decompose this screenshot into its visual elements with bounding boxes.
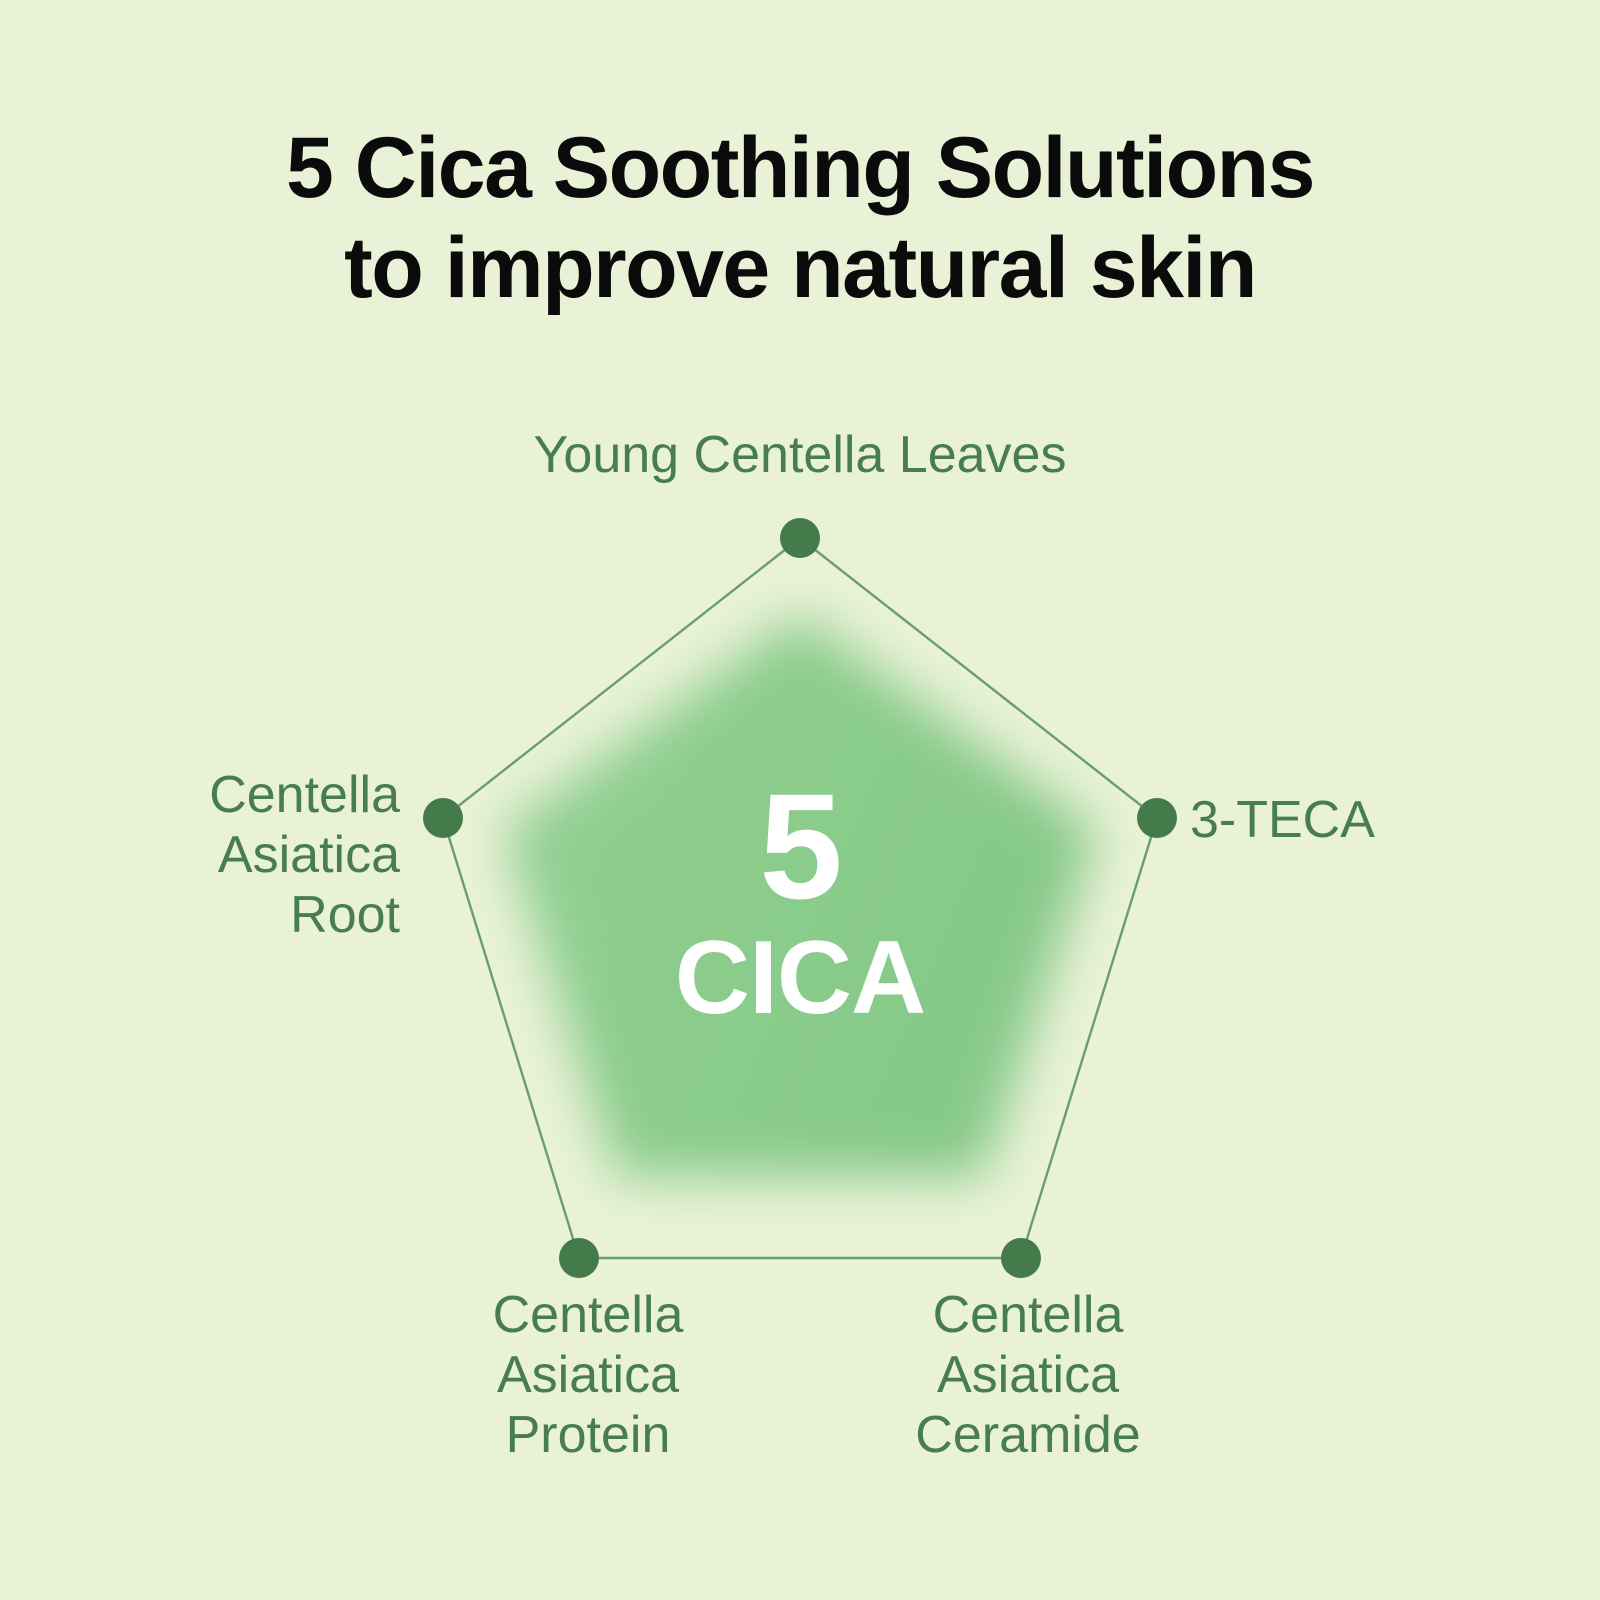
vertex-dot-centella-asiatica-ceramide[interactable] bbox=[1001, 1238, 1041, 1278]
radar-diagram: 5 CICA Young Centella Leaves 3-TECA Cent… bbox=[0, 0, 1600, 1600]
vertex-dot-centella-asiatica-protein[interactable] bbox=[559, 1238, 599, 1278]
vertex-dot-3-teca[interactable] bbox=[1137, 798, 1177, 838]
vertex-label-centella-asiatica-ceramide: Centella Asiatica Ceramide bbox=[768, 1285, 1288, 1465]
vertex-label-3-teca: 3-TECA bbox=[1190, 790, 1550, 850]
vertex-dot-centella-asiatica-root[interactable] bbox=[423, 798, 463, 838]
vertex-label-centella-asiatica-root: Centella Asiatica Root bbox=[20, 765, 400, 945]
infographic-canvas: 5 Cica Soothing Solutions to improve nat… bbox=[0, 0, 1600, 1600]
vertex-label-young-centella-leaves: Young Centella Leaves bbox=[300, 425, 1300, 485]
pentagon-fill bbox=[503, 614, 1097, 1177]
vertex-dot-young-centella-leaves[interactable] bbox=[780, 518, 820, 558]
